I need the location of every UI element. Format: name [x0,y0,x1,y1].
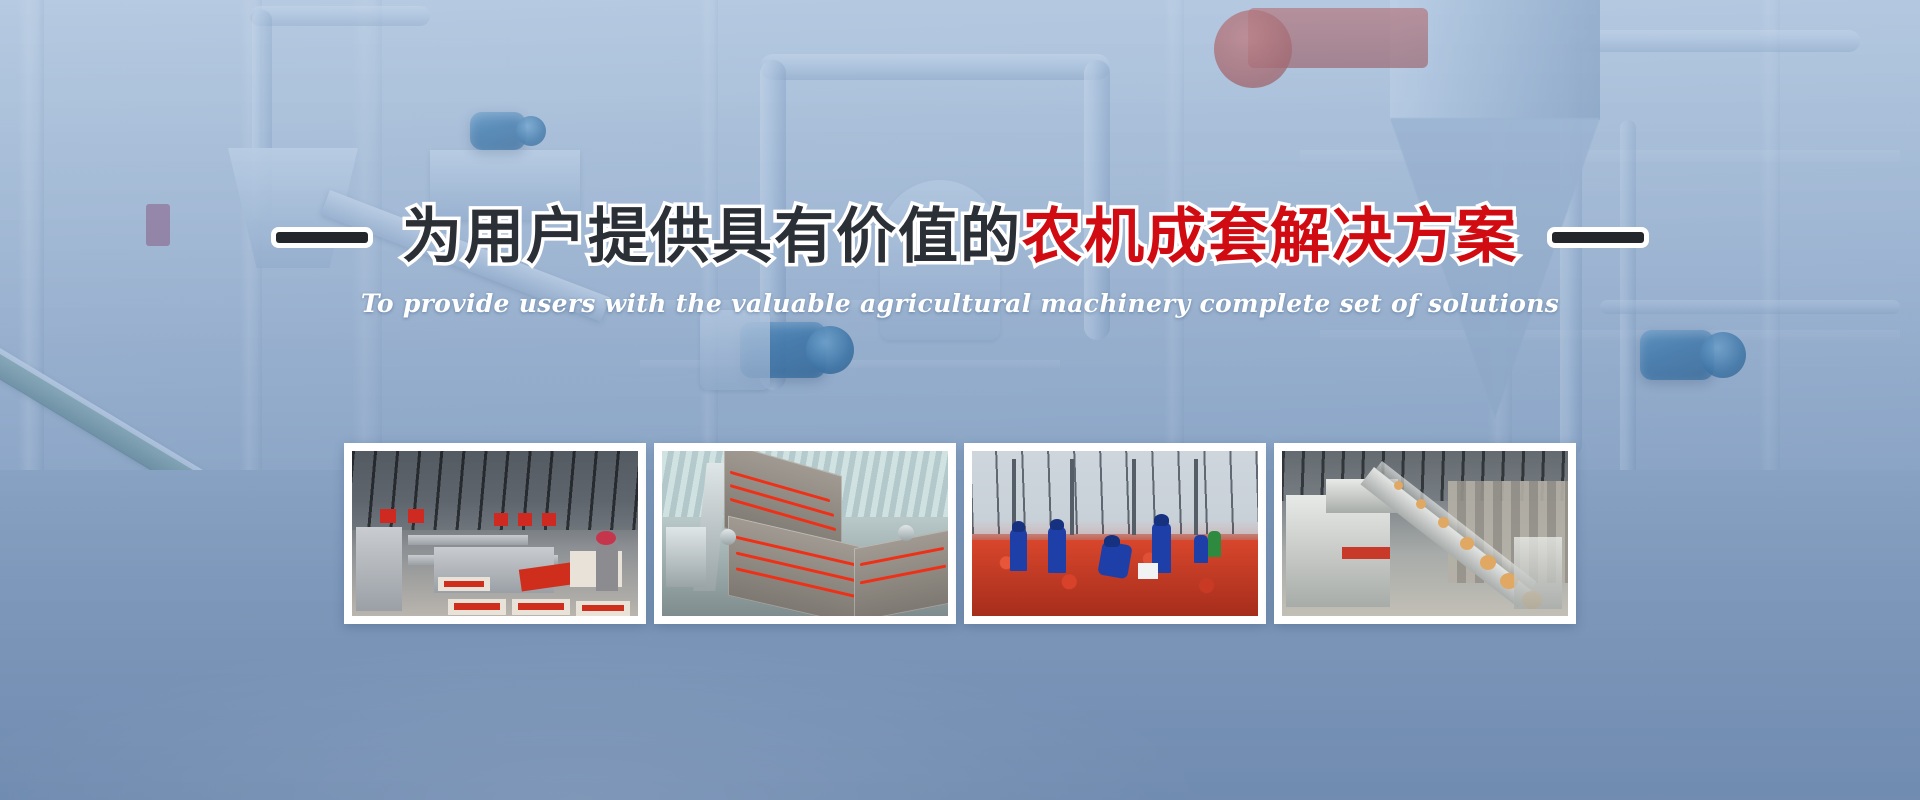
hall-sign [380,509,396,523]
thumbnail-2[interactable] [654,443,956,624]
background-scene [0,0,1920,800]
thumbnail-4-image [1282,451,1568,616]
thumbnail-3[interactable] [964,443,1266,624]
thumbnail-3-image [972,451,1258,616]
headline-row: 为用户提供具有价值的农机成套解决方案 [0,206,1920,269]
hall-sign [494,513,508,526]
berry-bed [518,603,564,610]
potato [1480,555,1496,570]
bucket [1138,563,1158,579]
tray-rack [408,535,528,545]
potato [1416,499,1426,509]
headline-accent: 农机成套解决方案 [1022,202,1518,272]
berry-bed [582,605,624,611]
page-title: 为用户提供具有价值的农机成套解决方案 [402,206,1518,269]
thumbnail-2-image [662,451,948,616]
worker [1010,529,1027,571]
dash-left-icon [276,232,368,243]
hero-banner: 为用户提供具有价值的农机成套解决方案 To provide users with… [0,0,1920,800]
background-blue-wash [0,0,1920,800]
hall-sign [408,509,424,523]
worker-cap [1012,521,1025,532]
thumbnail-strip [344,443,1576,624]
machine-label [1342,547,1390,559]
berry-bed [454,603,500,610]
worker [1048,527,1066,573]
side-machine [666,527,706,587]
thumbnail-1-image [352,451,638,616]
thumbnail-4[interactable] [1274,443,1576,624]
hall-sign [518,513,532,526]
drive-pulley [720,529,736,545]
worker-cap [596,531,616,545]
worker-cap [1154,514,1169,526]
side-cabinet [1514,537,1562,609]
tray-rack [356,527,402,611]
page-subtitle: To provide users with the valuable agric… [0,289,1920,318]
column [1194,459,1198,535]
potato [1460,537,1474,550]
worker [596,539,618,591]
worker [1194,535,1208,563]
worker-cap [1050,519,1064,530]
column [1070,459,1074,535]
potato [1394,481,1403,490]
headline-lead: 为用户提供具有价值的 [402,202,1022,272]
hall-sign [542,513,556,526]
potato [1438,517,1449,528]
thumbnail-1[interactable] [344,443,646,624]
berry-bed [444,581,484,587]
worker [1208,531,1221,557]
drive-pulley [898,525,914,541]
worker-cap [1104,535,1120,547]
dash-right-icon [1552,232,1644,243]
column [1132,459,1136,535]
